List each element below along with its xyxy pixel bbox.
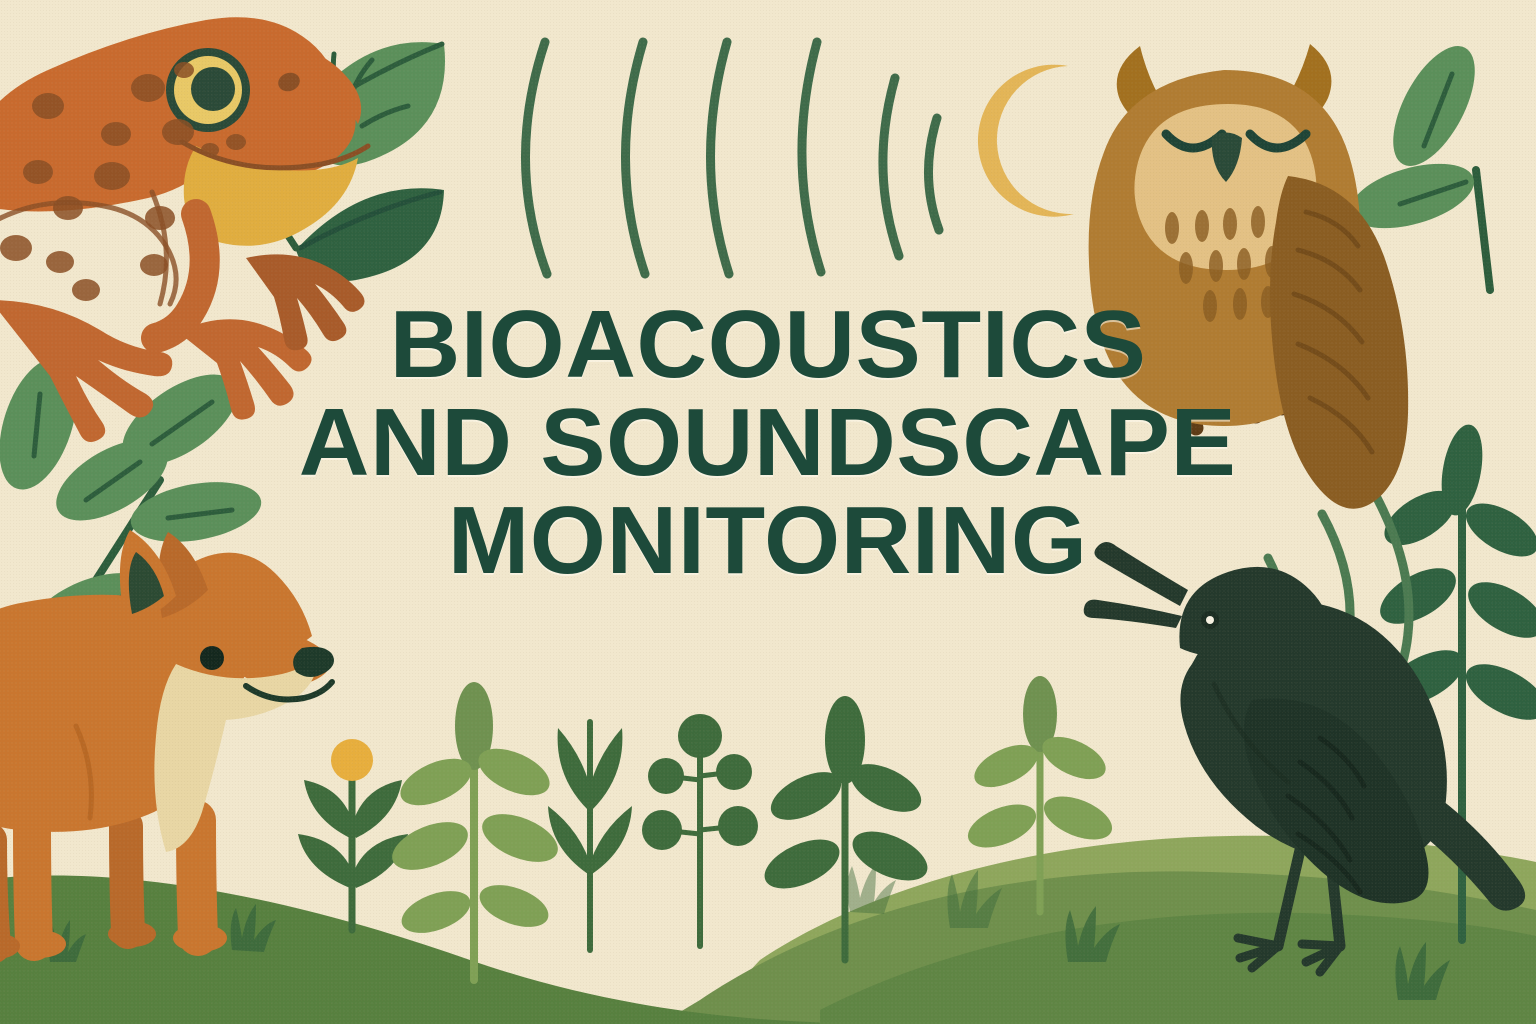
bird-head (1179, 567, 1331, 663)
bird-beak-lower (1084, 600, 1182, 628)
bird-eye-highlight (1206, 616, 1214, 624)
bird-beak-upper (1094, 542, 1188, 606)
bird-feet (1238, 938, 1340, 972)
songbird-group (1084, 542, 1525, 972)
bird-leg-left (1278, 850, 1300, 946)
poster-canvas: BIOACOUSTICS AND SOUNDSCAPE MONITORING (0, 0, 1536, 1024)
songbird-illustration (0, 0, 1536, 1024)
